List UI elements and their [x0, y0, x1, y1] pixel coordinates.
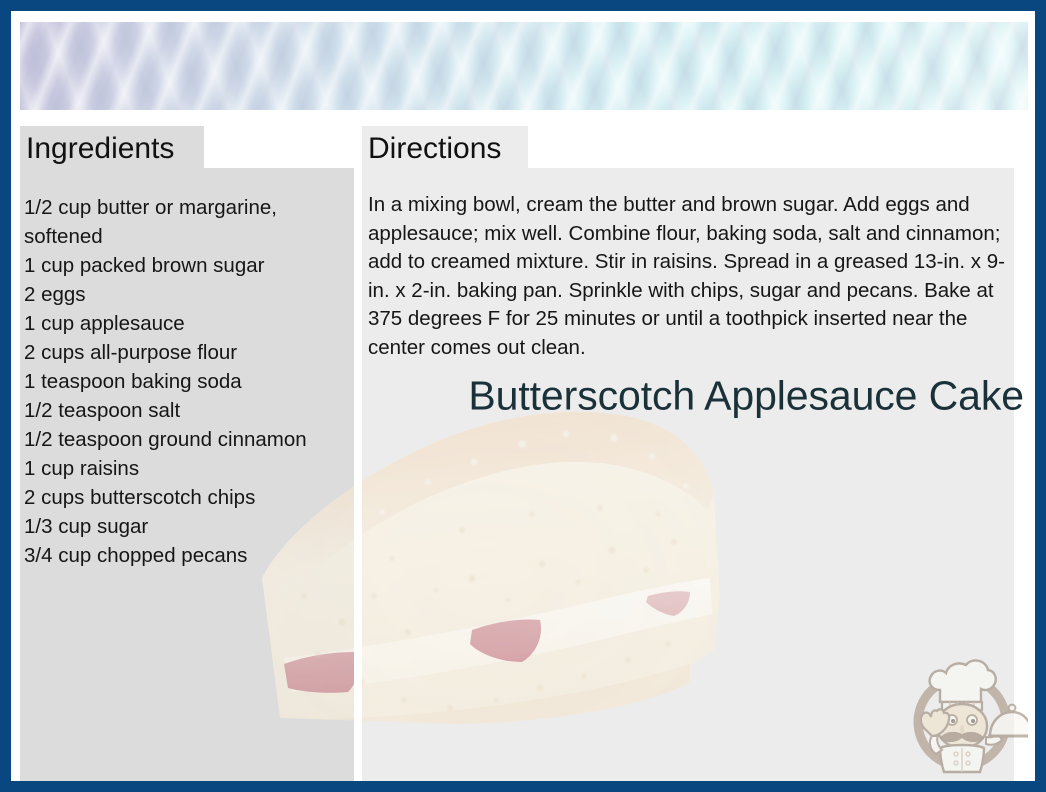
ingredient-item: 3/4 cup chopped pecans — [24, 541, 344, 570]
ingredients-heading-tab: Ingredients — [20, 126, 204, 170]
ingredient-item: 1 teaspoon baking soda — [24, 367, 344, 396]
ingredients-list: 1/2 cup butter or margarine, softened1 c… — [24, 193, 344, 570]
ingredient-item: 1/3 cup sugar — [24, 512, 344, 541]
border-left — [0, 0, 11, 792]
directions-heading: Directions — [368, 130, 501, 168]
ingredient-item: 2 cups butterscotch chips — [24, 483, 344, 512]
ingredient-item: 1 cup packed brown sugar — [24, 251, 344, 280]
directions-heading-tab: Directions — [362, 126, 528, 170]
ingredient-item: 2 cups all-purpose flour — [24, 338, 344, 367]
ingredients-panel: 1/2 cup butter or margarine, softened1 c… — [20, 168, 354, 782]
directions-text: In a mixing bowl, cream the butter and b… — [368, 191, 1010, 362]
ingredient-item: 1/2 cup butter or margarine, softened — [24, 193, 344, 251]
page-title: Butterscotch Applesauce Cake — [468, 374, 1024, 417]
ingredient-item: 2 eggs — [24, 280, 344, 309]
ingredients-heading: Ingredients — [26, 130, 174, 168]
recipe-card: Butterscotch Applesauce Cake Ingredients… — [0, 0, 1046, 792]
header-banner — [20, 22, 1028, 110]
ingredient-item: 1/2 teaspoon salt — [24, 396, 344, 425]
border-top — [0, 0, 1046, 11]
ingredient-item: 1/2 teaspoon ground cinnamon — [24, 425, 344, 454]
border-bottom — [0, 781, 1046, 792]
chef-logo-watermark — [896, 644, 1028, 778]
border-right — [1035, 0, 1046, 792]
ingredient-item: 1 cup applesauce — [24, 309, 344, 338]
ingredient-item: 1 cup raisins — [24, 454, 344, 483]
panel-divider — [354, 168, 362, 782]
